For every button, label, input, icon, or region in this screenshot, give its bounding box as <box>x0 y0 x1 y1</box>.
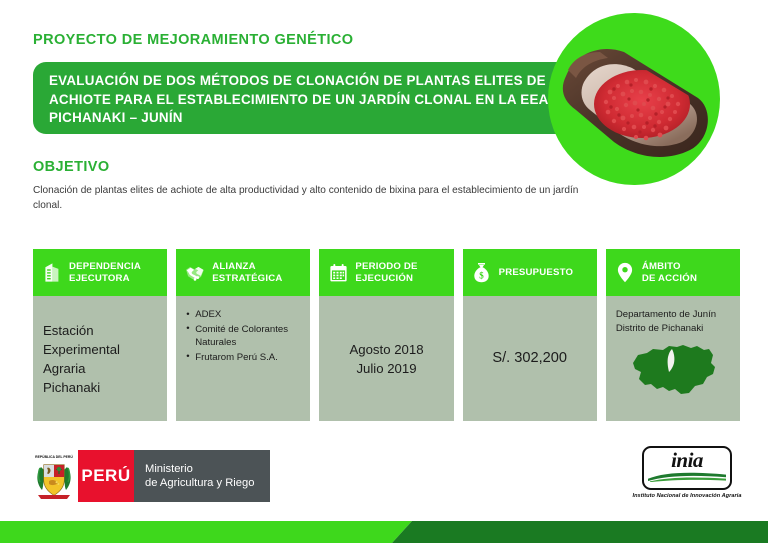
peru-ministry-logo: REPÚBLICA DEL PERÚ <box>30 450 270 502</box>
card-title: PRESUPUESTO <box>499 267 574 279</box>
inia-mark: inia <box>642 446 732 490</box>
calendar-icon <box>328 262 348 284</box>
ambito-value: Departamento de Junín Distrito de Pichan… <box>616 308 730 335</box>
handshake-icon <box>185 262 205 284</box>
card-header: PERIODO DE EJECUCIÓN <box>319 249 453 296</box>
card-title: PERIODO DE EJECUCIÓN <box>355 261 417 284</box>
card-title: DEPENDENCIA EJECUTORA <box>69 261 141 284</box>
money-bag-icon: $ <box>472 262 492 284</box>
card-header: ÁMBITO DE ACCIÓN <box>606 249 740 296</box>
objective-label: OBJETIVO <box>33 159 110 175</box>
junin-map <box>616 341 730 397</box>
map-pin-icon <box>615 262 635 284</box>
card-body: ADEX Comité de Colorantes Naturales Frut… <box>176 296 310 421</box>
ministry-name: Ministerio de Agricultura y Riego <box>134 450 270 502</box>
card-title: ÁMBITO DE ACCIÓN <box>642 261 697 284</box>
page-title: EVALUACIÓN DE DOS MÉTODOS DE CLONACIÓN D… <box>49 72 569 128</box>
presupuesto-value: S/. 302,200 <box>473 349 587 368</box>
card-body: Estación Experimental Agraria Pichanaki <box>33 296 167 421</box>
card-periodo-ejecucion: PERIODO DE EJECUCIÓN Agosto 2018 Julio 2… <box>319 249 453 421</box>
card-body: S/. 302,200 <box>463 296 597 421</box>
card-presupuesto: $ PRESUPUESTO S/. 302,200 <box>463 249 597 421</box>
alianza-list: ADEX Comité de Colorantes Naturales Frut… <box>186 308 300 365</box>
dependencia-value: Estación Experimental Agraria Pichanaki <box>43 321 157 397</box>
peru-wordmark: PERÚ <box>78 450 134 502</box>
card-title: ALIANZA ESTRATÉGICA <box>212 261 282 284</box>
objective-text: Clonación de plantas elites de achiote d… <box>33 183 593 213</box>
inia-swoosh-icon <box>646 470 728 482</box>
card-body: Agosto 2018 Julio 2019 <box>319 296 453 421</box>
card-header: $ PRESUPUESTO <box>463 249 597 296</box>
list-item: ADEX <box>186 308 300 322</box>
inia-logo: inia Instituto Nacional de Innovación Ag… <box>632 446 742 504</box>
info-cards-row: DEPENDENCIA EJECUTORA Estación Experimen… <box>33 249 740 421</box>
bottom-stripe <box>0 519 768 543</box>
list-item: Frutarom Perú S.A. <box>186 351 300 365</box>
card-alianza-estrategica: ALIANZA ESTRATÉGICA ADEX Comité de Color… <box>176 249 310 421</box>
inia-wordmark: inia <box>671 449 703 472</box>
card-body: Departamento de Junín Distrito de Pichan… <box>606 296 740 421</box>
card-dependencia-ejecutora: DEPENDENCIA EJECUTORA Estación Experimen… <box>33 249 167 421</box>
card-header: ALIANZA ESTRATÉGICA <box>176 249 310 296</box>
infographic-poster: PROYECTO DE MEJORAMIENTO GENÉTICO EVALUA… <box>0 0 768 543</box>
card-header: DEPENDENCIA EJECUTORA <box>33 249 167 296</box>
card-ambito-accion: ÁMBITO DE ACCIÓN Departamento de Junín D… <box>606 249 740 421</box>
achiote-seeds-photo <box>556 30 714 170</box>
svg-text:REPÚBLICA DEL PERÚ: REPÚBLICA DEL PERÚ <box>35 454 73 459</box>
inia-tagline: Instituto Nacional de Innovación Agraria <box>632 493 741 499</box>
building-icon <box>42 262 62 284</box>
list-item: Comité de Colorantes Naturales <box>186 323 300 350</box>
peru-coat-of-arms-icon: REPÚBLICA DEL PERÚ <box>30 450 78 502</box>
periodo-value: Agosto 2018 Julio 2019 <box>329 340 443 378</box>
project-kicker: PROYECTO DE MEJORAMIENTO GENÉTICO <box>33 32 353 48</box>
svg-text:$: $ <box>479 270 484 280</box>
